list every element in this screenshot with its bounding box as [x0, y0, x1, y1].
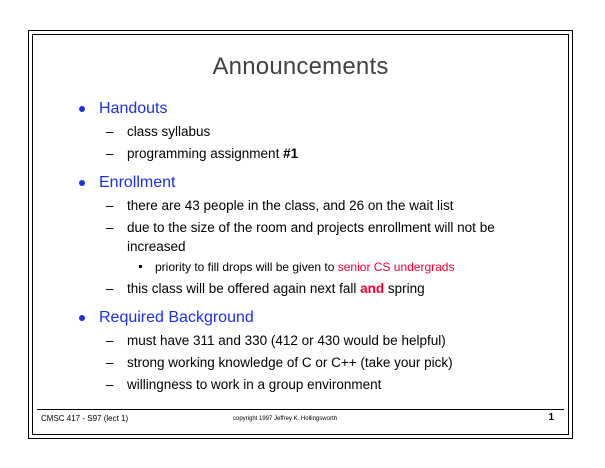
bullet-square-icon	[139, 265, 142, 268]
list-item: – there are 43 people in the class, and …	[73, 196, 554, 215]
list-item: – strong working knowledge of C or C++ (…	[73, 353, 554, 372]
section-heading-label: Handouts	[99, 100, 168, 117]
list-item: – willingness to work in a group environ…	[73, 375, 554, 394]
section-heading-label: Enrollment	[99, 174, 175, 191]
list-item-emphasis: #1	[283, 146, 298, 161]
sub-list-item-highlight: senior CS undergrads	[338, 260, 455, 274]
list-item-label: strong working knowledge of C or C++ (ta…	[127, 355, 453, 370]
list-item: – class syllabus	[73, 122, 554, 141]
dash-icon: –	[106, 353, 114, 372]
section-heading-label: Required Background	[99, 309, 254, 326]
list-item: – this class will be offered again next …	[73, 279, 554, 298]
dash-icon: –	[106, 218, 114, 237]
slide-footer: CMSC 417 - S97 (lect 1) copyright 1997 J…	[37, 410, 564, 430]
sub-list-item-label: priority to fill drops will be given to	[155, 260, 338, 274]
dash-icon: –	[106, 122, 114, 141]
sub-list-item: priority to fill drops will be given to …	[73, 258, 554, 276]
list-item-label-tail: spring	[388, 281, 425, 296]
list-item-highlight: and	[360, 281, 384, 296]
list-item-label: this class will be offered again next fa…	[127, 281, 356, 296]
footer-copyright-label: copyright 1997 Jeffrey K. Hollingsworth	[233, 416, 337, 422]
dash-icon: –	[106, 196, 114, 215]
dash-icon: –	[106, 375, 114, 394]
section-heading-required-background: Required Background	[73, 308, 554, 328]
section-heading-enrollment: Enrollment	[73, 173, 554, 193]
list-item-label: must have 311 and 330 (412 or 430 would …	[127, 333, 446, 348]
footer-course-label: CMSC 417 - S97 (lect 1)	[41, 414, 128, 423]
dash-icon: –	[106, 331, 114, 350]
list-item: – must have 311 and 330 (412 or 430 woul…	[73, 331, 554, 350]
slide-body: Handouts – class syllabus – programming …	[73, 97, 554, 394]
list-item: – due to the size of the room and projec…	[73, 218, 554, 256]
bullet-dot-icon	[79, 180, 85, 186]
list-item-label: willingness to work in a group environme…	[127, 377, 381, 392]
list-item-label: due to the size of the room and projects…	[127, 220, 495, 254]
slide-inner-frame: Announcements Handouts – class syllabus …	[32, 34, 569, 435]
bullet-dot-icon	[79, 106, 85, 112]
section-heading-handouts: Handouts	[73, 99, 554, 119]
dash-icon: –	[106, 279, 114, 298]
footer-page-number: 1	[548, 412, 554, 423]
slide-outer-frame: Announcements Handouts – class syllabus …	[28, 30, 573, 439]
page-title: Announcements	[33, 53, 568, 81]
list-item-label: class syllabus	[127, 124, 210, 139]
list-item-label: programming assignment	[127, 146, 283, 161]
bullet-dot-icon	[79, 315, 85, 321]
dash-icon: –	[106, 144, 114, 163]
list-item-label: there are 43 people in the class, and 26…	[127, 198, 453, 213]
list-item: – programming assignment #1	[73, 144, 554, 163]
